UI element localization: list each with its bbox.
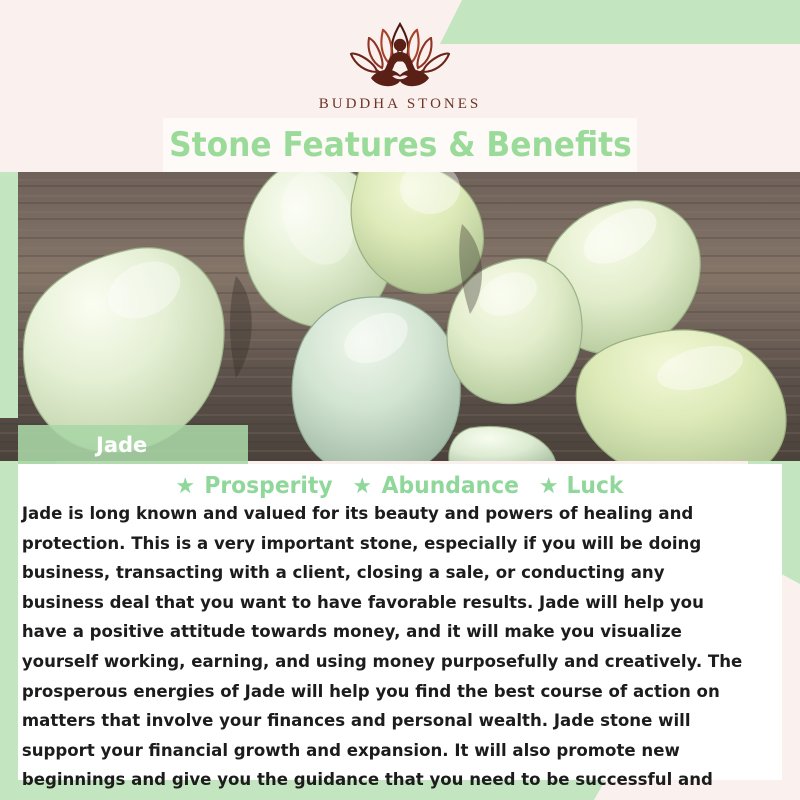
stone-info-poster: BUDDHA STONES Stone Features & Benefits xyxy=(0,0,800,800)
stone-description: Jade is long known and valued for its be… xyxy=(18,498,755,800)
benefits-row: ★ Prosperity ★ Abundance ★ Luck xyxy=(18,464,782,498)
decorative-shape-left-strip-upper xyxy=(0,172,18,418)
benefit-item: ★ Prosperity xyxy=(175,473,336,499)
brand-logo: BUDDHA STONES xyxy=(0,16,800,113)
benefit-item: ★ Luck xyxy=(539,473,625,499)
jade-stones-image xyxy=(0,172,800,461)
stone-name-text: Jade xyxy=(96,433,147,457)
title-banner: Stone Features & Benefits xyxy=(163,118,637,172)
page-title: Stone Features & Benefits xyxy=(169,125,632,165)
stone-photo xyxy=(0,172,800,461)
stone-name-label: Jade xyxy=(18,425,248,464)
star-icon: ★ xyxy=(352,476,372,496)
star-icon: ★ xyxy=(175,476,195,496)
benefit-label: Abundance xyxy=(382,473,519,499)
benefit-label: Prosperity xyxy=(205,473,333,499)
star-icon: ★ xyxy=(539,476,559,496)
lotus-meditation-icon xyxy=(325,16,475,92)
benefit-label: Luck xyxy=(566,473,623,499)
brand-name: BUDDHA STONES xyxy=(0,96,800,113)
benefit-item: ★ Abundance xyxy=(352,473,523,499)
content-panel: ★ Prosperity ★ Abundance ★ Luck Jade is … xyxy=(18,464,782,780)
